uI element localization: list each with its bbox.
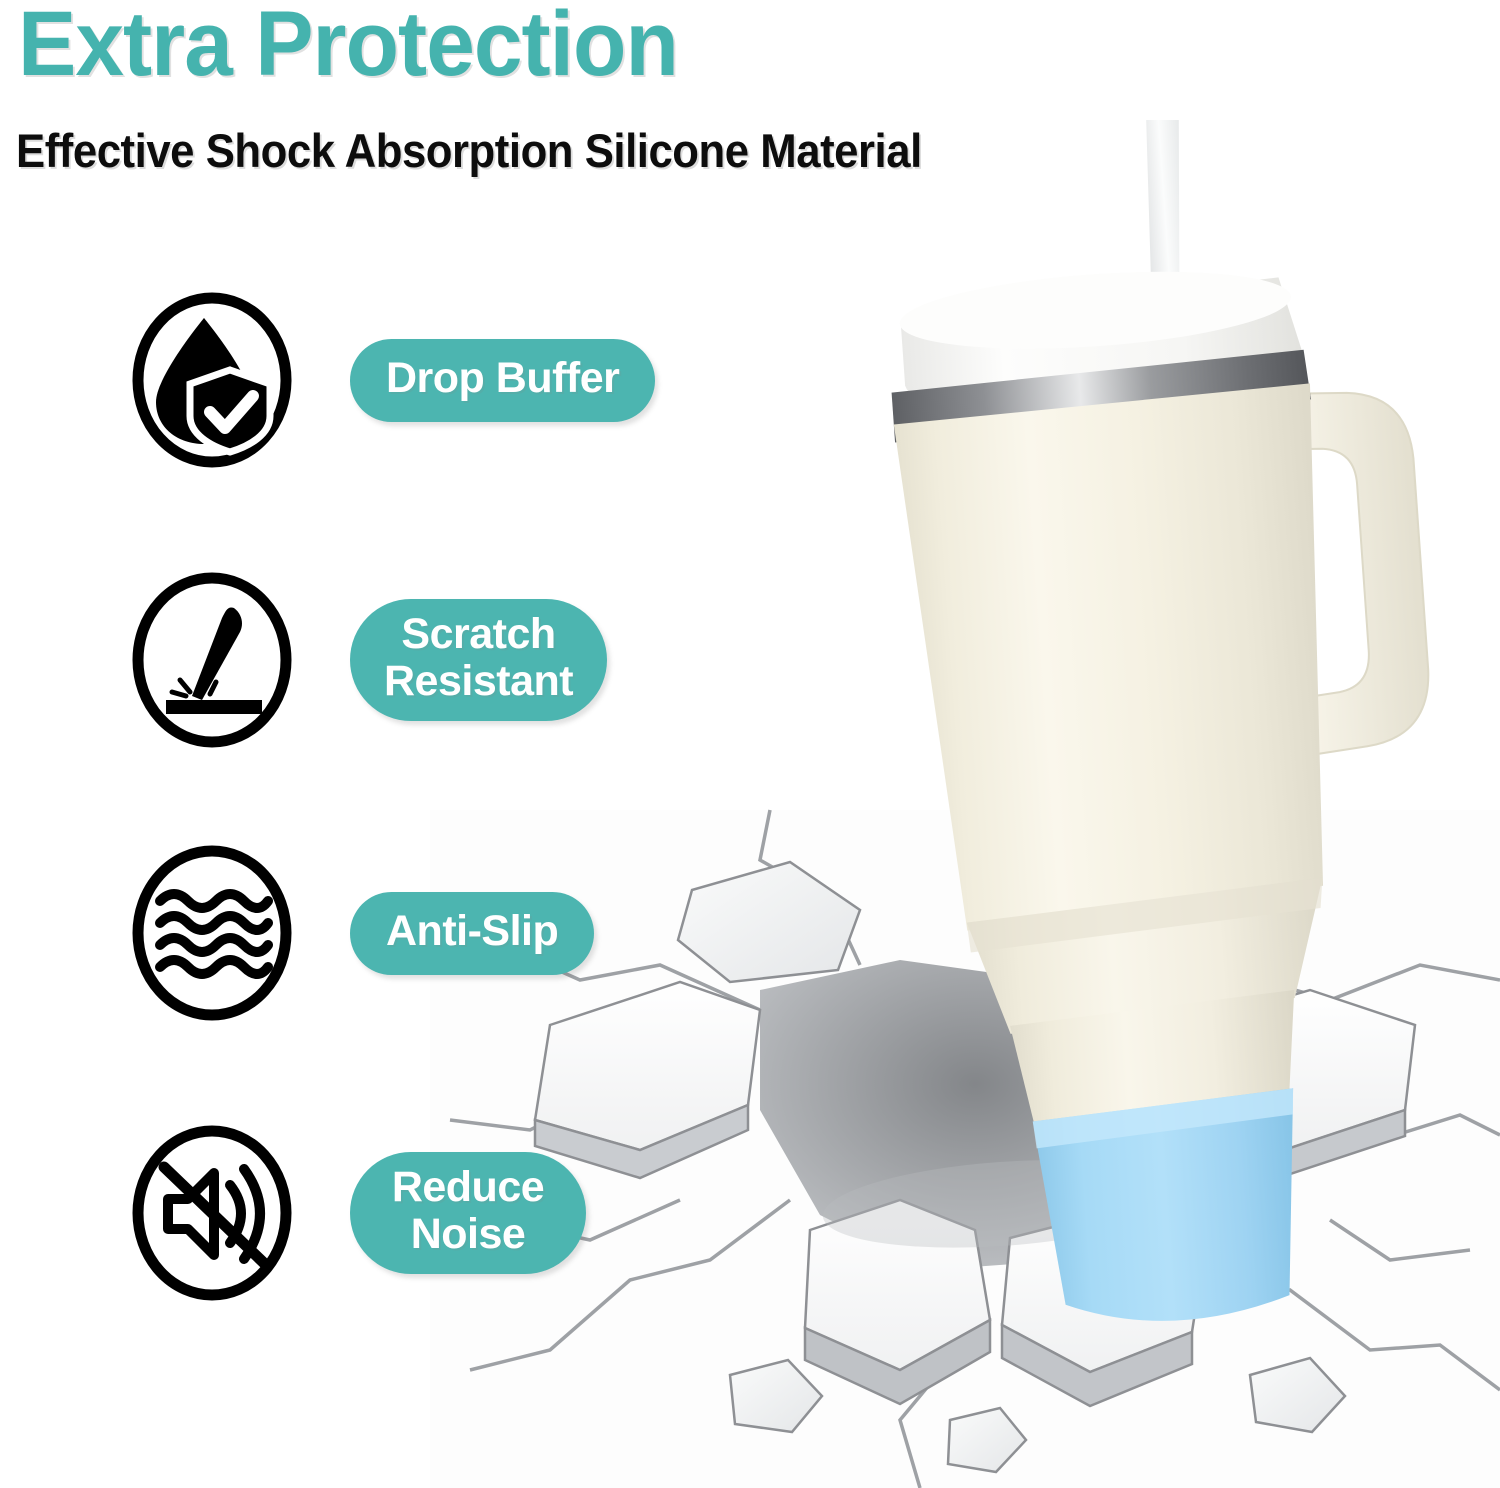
body-upper bbox=[893, 383, 1346, 933]
feature-list: Drop Buffer Scratch Resistant bbox=[0, 0, 760, 1488]
feature-label-anti-slip: Anti-Slip bbox=[350, 892, 594, 975]
feature-label-reduce-noise: Reduce Noise bbox=[350, 1152, 586, 1274]
straw bbox=[1130, 120, 1199, 296]
feature-item-reduce-noise[interactable]: Reduce Noise bbox=[0, 1118, 586, 1308]
feature-item-anti-slip[interactable]: Anti-Slip bbox=[0, 838, 594, 1028]
feature-item-drop-buffer[interactable]: Drop Buffer bbox=[0, 285, 655, 475]
droplet-shield-check-icon bbox=[130, 292, 295, 468]
feature-label-scratch-resistant: Scratch Resistant bbox=[350, 599, 607, 721]
speaker-muted-icon bbox=[130, 1125, 295, 1301]
wavy-texture-icon bbox=[130, 845, 295, 1021]
feature-item-scratch-resistant[interactable]: Scratch Resistant bbox=[0, 565, 607, 755]
feature-label-drop-buffer: Drop Buffer bbox=[350, 339, 655, 422]
needle-scratch-surface-icon bbox=[130, 572, 295, 748]
